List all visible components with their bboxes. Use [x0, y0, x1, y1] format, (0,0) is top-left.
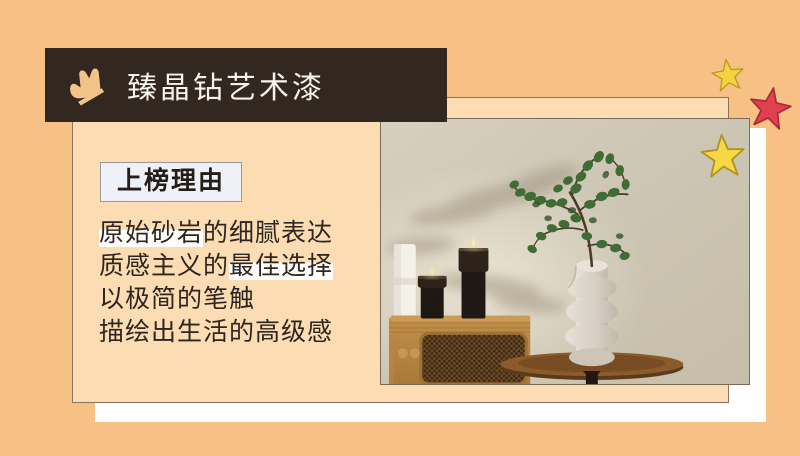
- star-yellow-lower-icon: [700, 133, 746, 179]
- reason-text-block: 原始砂岩的细腻表达 质感主义的最佳选择 以极简的笔触 描绘出生活的高级感: [99, 218, 399, 350]
- reason-line-2-rest: 质感主义的: [99, 252, 229, 280]
- star-red-icon: [748, 86, 792, 130]
- reason-line-1-rest: 的细腻表达: [203, 219, 333, 247]
- reason-line-1-highlight: 原始砂岩: [99, 219, 203, 247]
- reason-line-2-highlight: 最佳选择: [229, 252, 333, 280]
- reason-line-3-rest: 以极简的笔触: [99, 285, 255, 313]
- title-bar: 臻晶钻艺术漆: [45, 48, 447, 122]
- star-yellow-top-icon: [711, 58, 745, 92]
- reason-line-2: 质感主义的最佳选择: [99, 251, 399, 282]
- reason-line-1: 原始砂岩的细腻表达: [99, 218, 399, 249]
- photo-illustration: [381, 119, 749, 384]
- reason-line-4: 描绘出生活的高级感: [99, 317, 399, 348]
- reason-badge-label: 上榜理由: [117, 167, 225, 195]
- reason-badge: 上榜理由: [100, 162, 242, 202]
- reason-line-3: 以极简的笔触: [99, 284, 399, 315]
- product-scene-photo: [380, 118, 750, 385]
- crown-icon: [59, 55, 121, 117]
- poster-title: 臻晶钻艺术漆: [127, 63, 325, 107]
- reason-line-4-rest: 描绘出生活的高级感: [99, 318, 333, 346]
- poster-canvas: 臻晶钻艺术漆 上榜理由 原始砂岩的细腻表达 质感主义的最佳选择 以极简的笔触 描…: [0, 0, 800, 456]
